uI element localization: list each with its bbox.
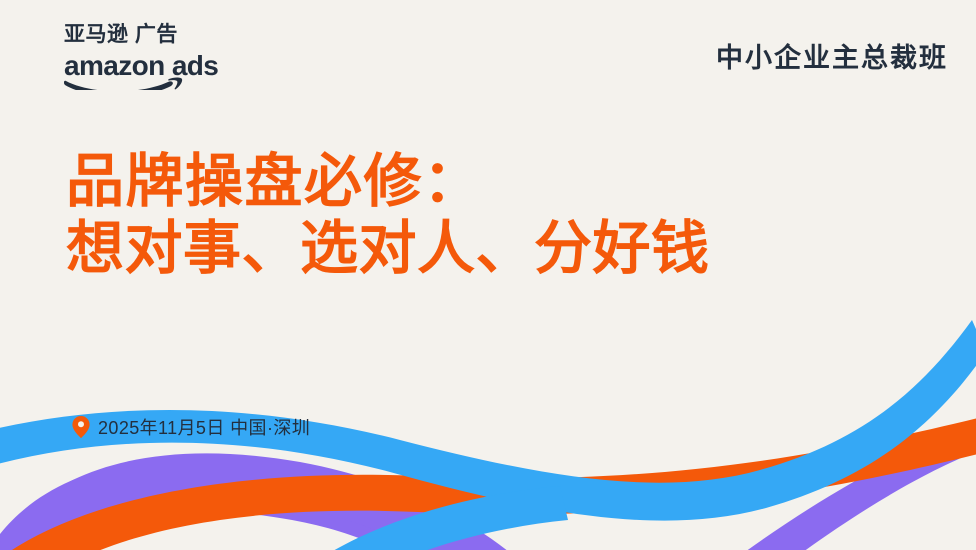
poster-canvas: 亚马逊 广告 amazon ads 中小企业主总裁班 品牌操盘必修： 想对事、选… [0, 0, 976, 550]
location-pin-icon [72, 416, 90, 438]
amazon-ads-logo: 亚马逊 广告 amazon ads [64, 24, 274, 88]
purple-ribbon-right [726, 418, 976, 550]
main-title-line-1: 品牌操盘必修： [66, 148, 710, 215]
amazon-smile-swoosh-icon [64, 81, 173, 90]
wordmark-text: amazon ads [64, 50, 218, 81]
main-title: 品牌操盘必修： 想对事、选对人、分好钱 [66, 148, 710, 283]
event-date-location: 2025年11月5日 中国·深圳 [98, 414, 310, 440]
event-meta: 2025年11月5日 中国·深圳 [72, 414, 310, 440]
logo-chinese-text: 亚马逊 广告 [64, 24, 274, 46]
amazon-ads-wordmark: amazon ads [64, 48, 269, 88]
blue-ribbon-tail [318, 486, 568, 550]
program-name-heading: 中小企业主总裁班 [716, 36, 948, 75]
amazon-ads-wordmark-svg: amazon ads [64, 48, 269, 90]
main-title-line-2: 想对事、选对人、分好钱 [66, 215, 710, 282]
purple-ribbon-left-b [0, 453, 576, 550]
poster-header: 亚马逊 广告 amazon ads 中小企业主总裁班 [0, 0, 976, 104]
purple-ribbon-left [0, 458, 560, 550]
